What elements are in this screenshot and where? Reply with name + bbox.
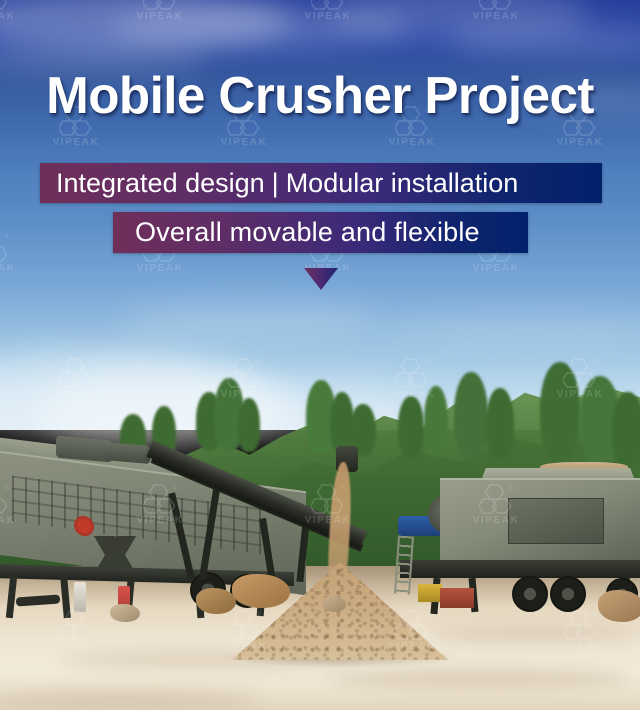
tagline-secondary-text: Overall movable and flexible [135,219,480,246]
cloud [120,300,380,340]
tree [424,386,448,456]
tree [398,396,424,458]
tagline-bar-primary: Integrated design | Modular installation [40,163,602,203]
site-container [418,584,442,602]
boulder [232,574,290,608]
tagline-left-text: Integrated design [56,170,265,197]
site-barrel [74,582,86,612]
trailer-wheel [512,576,548,612]
hero-banner: ®VIPEAK®VIPEAK®VIPEAK®VIPEAK®VIPEAK®VIPE… [0,0,640,710]
tagline-right-text: Modular installation [286,170,519,197]
page-title: Mobile Crusher Project [5,66,635,126]
tree [612,392,640,466]
tree [486,388,514,458]
tree [454,372,488,458]
crusher-side-panel [508,498,604,544]
trailer-wheel [550,576,586,612]
tagline-bar-secondary: Overall movable and flexible [113,212,528,253]
boulder [196,588,236,614]
boulder [598,590,640,622]
boulder [110,604,140,622]
crusher-chassis [400,560,640,578]
tree [540,362,580,458]
ground-streak [430,628,640,642]
tagline-separator: | [265,170,286,197]
tree [238,398,260,452]
ground-streak [330,668,630,688]
site-container [440,588,474,608]
boulder [322,596,346,612]
